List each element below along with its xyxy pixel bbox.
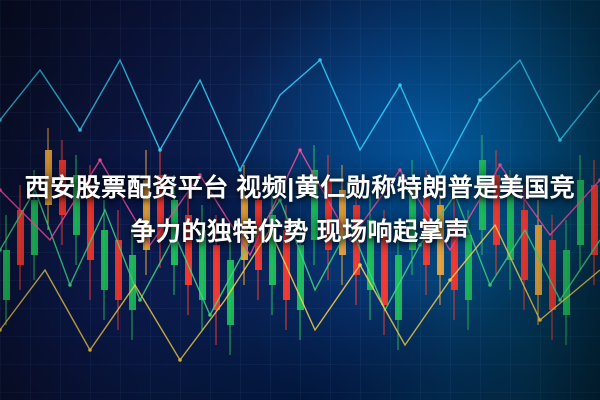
headline-line-2: 争力的独特优势 现场响起掌声 <box>8 210 592 254</box>
cyan-zigzag <box>0 60 600 175</box>
trend-node <box>488 283 492 287</box>
trend-node <box>358 263 362 267</box>
trend-node <box>98 158 102 162</box>
trend-node <box>68 283 72 287</box>
trend-node <box>298 148 302 152</box>
image-canvas: 西安股票配资平台 视频|黄仁勋称特朗普是美国竞 争力的独特优势 现场响起掌声 <box>0 0 600 400</box>
trend-node <box>158 148 162 152</box>
trend-node <box>398 83 402 87</box>
trend-node <box>558 298 562 302</box>
trend-node <box>138 298 142 302</box>
headline-line-1: 西安股票配资平台 视频|黄仁勋称特朗普是美国竞 <box>8 166 592 210</box>
trend-node <box>318 58 322 62</box>
trend-node <box>558 138 562 142</box>
trend-node <box>448 278 452 282</box>
trend-node <box>78 128 82 132</box>
trend-node <box>178 358 182 362</box>
trend-node <box>478 98 482 102</box>
trend-node <box>208 313 212 317</box>
trend-node <box>538 318 542 322</box>
trend-node <box>88 348 92 352</box>
headline-text: 西安股票配资平台 视频|黄仁勋称特朗普是美国竞 争力的独特优势 现场响起掌声 <box>0 166 600 254</box>
